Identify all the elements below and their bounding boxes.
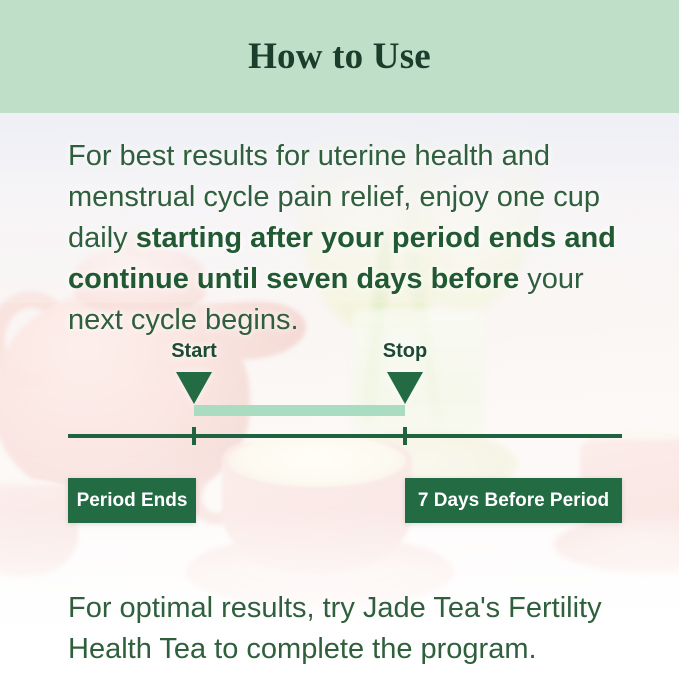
header-band: How to Use bbox=[0, 0, 679, 113]
outro-paragraph: For optimal results, try Jade Tea's Fert… bbox=[68, 588, 628, 670]
page-title: How to Use bbox=[248, 35, 431, 78]
how-to-use-card: How to Use For best results for uterine … bbox=[0, 0, 679, 679]
intro-paragraph: For best results for uterine health and … bbox=[68, 136, 628, 341]
